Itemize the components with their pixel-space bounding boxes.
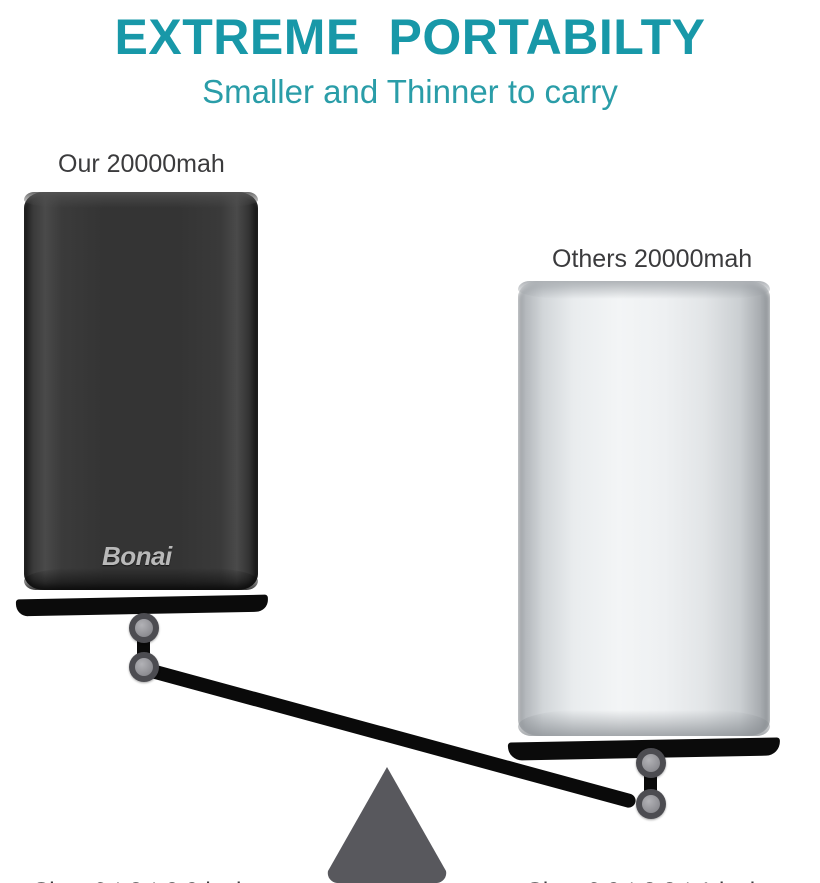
spec-caption-ours: Size: 6 * 3 * 0.9 inches， weight： 0.75lb [6, 816, 326, 883]
pivot-bolt-left-upper [129, 613, 159, 643]
page-title: EXTREME PORTABILTY [0, 8, 820, 66]
product-label-others: Others 20000mah [552, 245, 752, 274]
scale-fulcrum-triangle [322, 763, 452, 883]
pivot-bolt-right-lower [636, 789, 666, 819]
infographic-canvas: EXTREME PORTABILTY Smaller and Thinner t… [0, 0, 820, 883]
power-bank-ours-image [24, 192, 258, 590]
pivot-bolt-right-upper [636, 748, 666, 778]
spec-others-line1: Size: 6.9 * 3.3 * 1 inches, [506, 877, 816, 883]
page-subtitle: Smaller and Thinner to carry [0, 73, 820, 111]
bonai-brand-logo: Bonai [102, 541, 172, 572]
product-label-ours: Our 20000mah [58, 150, 225, 179]
pivot-bolt-left-lower [129, 652, 159, 682]
fulcrum-icon [322, 763, 452, 883]
power-bank-others-image [518, 281, 770, 736]
spec-ours-line1: Size: 6 * 3 * 0.9 inches， [6, 877, 326, 883]
spec-caption-others: Size: 6.9 * 3.3 * 1 inches, weight: 1.03… [506, 816, 816, 883]
